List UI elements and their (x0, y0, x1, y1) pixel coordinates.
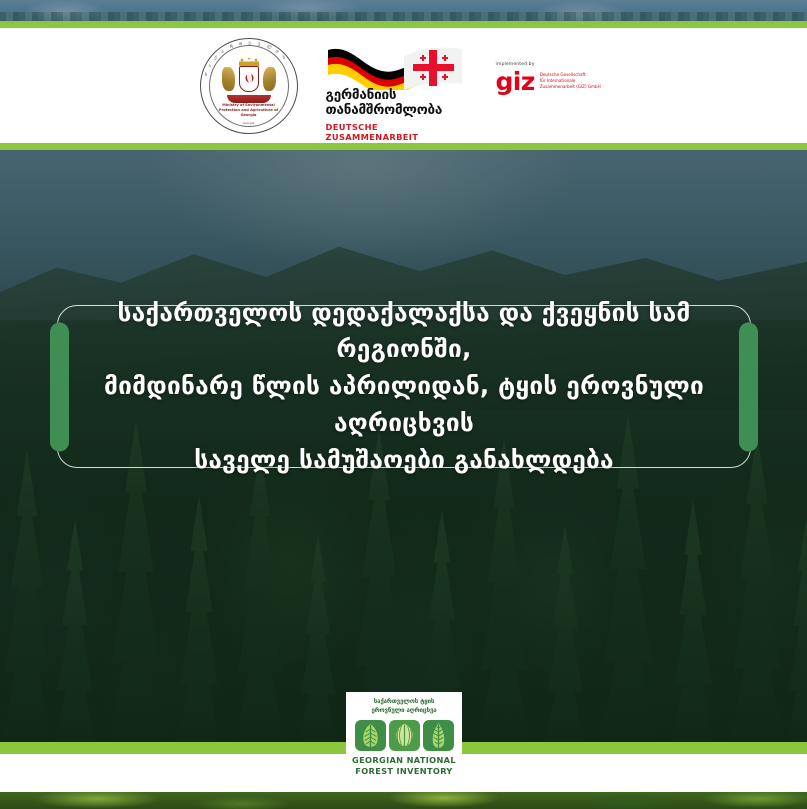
coop-label-ka-2: თანამშრომლობა (326, 103, 434, 119)
leaf-icon (389, 720, 420, 751)
bottom-photo-strip (0, 792, 807, 809)
ministry-seal-logo: ს ა ქ ა რ თ ვ ე ლ ო ს Ministry of Enviro… (200, 38, 298, 134)
headline-line-2: მიმდინარე წლის აპრილიდან, ტყის ეროვნული … (80, 368, 728, 442)
coop-caption: გერმანიის თანამშრომლობა DEUTSCHE ZUSAMME… (326, 88, 434, 143)
coop-label-de: DEUTSCHE ZUSAMMENARBEIT (326, 122, 434, 142)
headline-card: საქართველოს დედაქალაქსა და ქვეყნის სამ რ… (57, 305, 751, 468)
giz-fullname: Deutsche Gesellschaft für Internationale… (540, 72, 601, 90)
ribbon-icon (227, 95, 271, 103)
accent-bar-right (739, 322, 758, 451)
headline-text: საქართველოს დედაქალაქსა და ქვეყნის სამ რ… (80, 295, 728, 479)
giz-logo: implemented by giz Deutsche Gesellschaft… (496, 62, 608, 124)
giz-row: giz Deutsche Gesellschaft für Internatio… (496, 71, 608, 92)
green-divider-bottom (0, 143, 807, 150)
gnfi-logo-card: საქართველოს ტყის ეროვნული აღრიცხვა (346, 692, 462, 785)
coop-label-ka-1: გერმანიის (326, 88, 434, 104)
german-cooperation-logo: გერმანიის თანამშრომლობა DEUTSCHE ZUSAMME… (326, 40, 468, 132)
lion-left-icon (222, 67, 235, 91)
gnfi-label-ka-2: ეროვნული აღრიცხვა (351, 707, 457, 716)
headline-line-1: საქართველოს დედაქალაქსა და ქვეყნის სამ რ… (80, 295, 728, 369)
coat-of-arms-icon (221, 58, 277, 102)
leaf-icon (423, 720, 454, 751)
partner-logo-band: ს ა ქ ა რ თ ვ ე ლ ო ს Ministry of Enviro… (0, 28, 807, 143)
headline-line-3: საველე სამუშაოები განახლდება (80, 442, 728, 479)
accent-bar-left (50, 322, 69, 451)
poster: ს ა ქ ა რ თ ვ ე ლ ო ს Ministry of Enviro… (0, 0, 807, 809)
seal-caption-sub: Georgia (243, 121, 255, 125)
gnfi-leaf-icons (351, 720, 457, 751)
gnfi-label-ka-1: საქართველოს ტყის (351, 698, 457, 707)
giz-implemented-by-label: implemented by (496, 62, 608, 67)
giz-fullname-line-3: Zusammenarbeit (GIZ) GmbH (540, 84, 601, 90)
top-photo-strip (0, 0, 807, 21)
leaf-icon (355, 720, 386, 751)
german-georgian-flag-ribbon-icon (326, 40, 468, 90)
gnfi-label-en-2: FOREST INVENTORY (351, 766, 457, 777)
shield-icon (239, 66, 259, 92)
gnfi-label-en-1: GEORGIAN NATIONAL (351, 755, 457, 766)
giz-wordmark: giz (496, 71, 535, 92)
seal-caption-en: Ministry of Environmental Protection and… (216, 103, 282, 118)
green-divider-top (0, 21, 807, 28)
crown-icon (239, 58, 259, 66)
lion-right-icon (263, 67, 276, 91)
